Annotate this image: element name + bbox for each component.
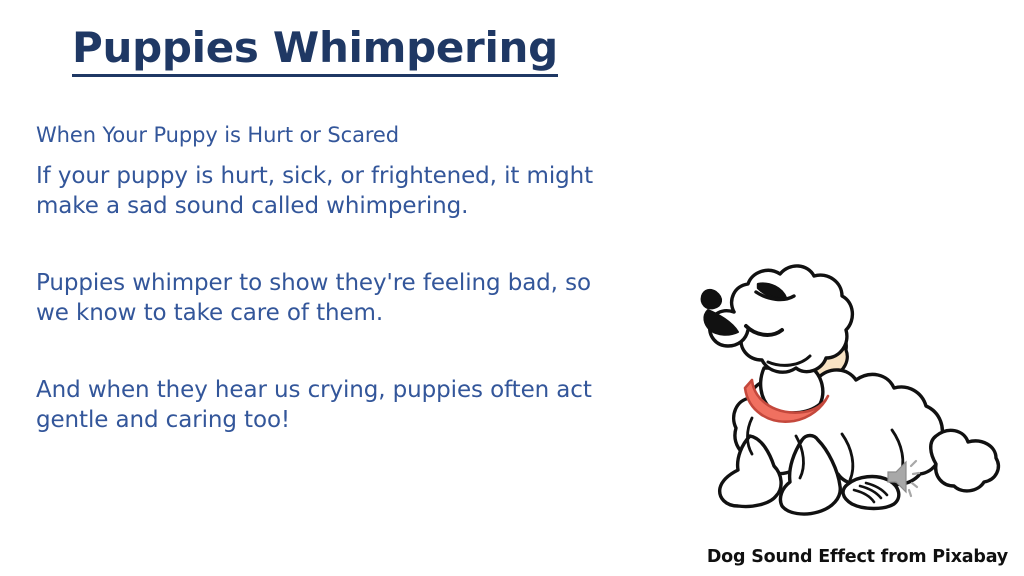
puppy-hind-leg	[931, 430, 999, 491]
paragraph-1-line-2: make a sad sound called whimpering.	[36, 193, 468, 219]
paragraph-1: If your puppy is hurt, sick, or frighten…	[36, 162, 668, 222]
puppy-illustration	[690, 258, 1020, 528]
lead-heading: When Your Puppy is Hurt or Scared	[36, 122, 668, 149]
paragraph-1-line-1: If your puppy is hurt, sick, or frighten…	[36, 163, 593, 189]
puppy-head	[730, 266, 853, 372]
puppy-illustration-svg	[690, 258, 1020, 528]
title-block: Puppies Whimpering	[72, 24, 772, 77]
body-text-block: When Your Puppy is Hurt or Scared If you…	[36, 122, 668, 436]
paragraph-spacer	[36, 329, 668, 376]
attribution-credit: Dog Sound Effect from Pixabay	[707, 547, 1008, 567]
puppy-nose	[702, 290, 721, 308]
slide-canvas: Puppies Whimpering When Your Puppy is Hu…	[0, 0, 1024, 576]
paragraph-spacer	[36, 222, 668, 269]
paragraph-3-line-2: gentle and caring too!	[36, 407, 290, 433]
paragraph-3: And when they hear us crying, puppies of…	[36, 376, 668, 436]
paragraph-3-line-1: And when they hear us crying, puppies of…	[36, 377, 592, 403]
paragraph-2-line-2: we know to take care of them.	[36, 300, 383, 326]
paragraph-2: Puppies whimper to show they're feeling …	[36, 269, 668, 329]
page-title: Puppies Whimpering	[72, 24, 558, 77]
paragraph-2-line-1: Puppies whimper to show they're feeling …	[36, 270, 591, 296]
